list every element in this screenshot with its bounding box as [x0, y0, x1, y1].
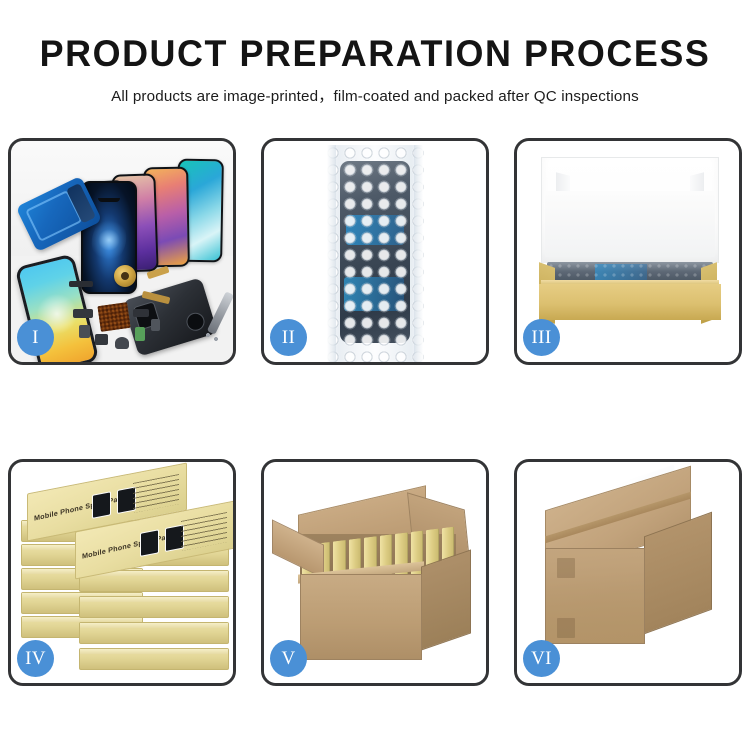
carton-front-panel — [300, 574, 422, 660]
step-badge: I — [17, 319, 54, 356]
carton-side-panel — [421, 549, 471, 650]
chip-grid-part — [97, 302, 130, 332]
page-subtitle: All products are image-printed，film-coat… — [0, 84, 750, 106]
panel-step-3: III — [514, 138, 742, 365]
small-component-part — [95, 334, 108, 345]
printed-spec-lines — [181, 512, 227, 551]
panel-step-5: V — [261, 459, 489, 686]
page-title: PRODUCT PREPARATION PROCESS — [11, 34, 739, 74]
battery-part — [135, 327, 145, 341]
small-component-part — [151, 319, 160, 331]
coil-part — [114, 265, 136, 287]
box-label-text: Mobile Phone Spare Parts — [82, 530, 176, 560]
foam-insert — [545, 191, 715, 257]
sleeve-edge-left — [327, 145, 336, 362]
step-badge: VI — [523, 640, 560, 677]
small-component-part — [73, 309, 93, 318]
screws-part — [205, 332, 221, 342]
panel-step-2: II — [261, 138, 489, 365]
sleeve-edge-right — [414, 145, 423, 362]
step-badge: IV — [17, 640, 54, 677]
printed-spec-lines — [133, 474, 179, 513]
panel-step-6: VI — [514, 459, 742, 686]
panel-step-1: I — [8, 138, 236, 365]
box-front-panel — [539, 284, 721, 320]
printed-screen-art — [140, 529, 159, 557]
step-badge: III — [523, 319, 560, 356]
small-component-part — [133, 309, 149, 317]
printed-screen-art — [92, 491, 111, 519]
box-label-text: Mobile Phone Spare Parts — [34, 492, 128, 522]
product-preparation-infographic: PRODUCT PREPARATION PROCESS All products… — [0, 0, 750, 750]
stacked-box — [79, 596, 229, 618]
speaker-part — [69, 281, 93, 287]
small-component-part — [79, 325, 90, 338]
stacked-box — [79, 648, 229, 670]
step-badge: II — [270, 319, 307, 356]
process-step-grid: I II — [8, 138, 742, 708]
carton-hand-slot — [557, 558, 575, 578]
header: PRODUCT PREPARATION PROCESS All products… — [0, 0, 750, 106]
step-badge: V — [270, 640, 307, 677]
stacked-box — [79, 622, 229, 644]
carton-hand-slot — [557, 618, 575, 638]
bubble-outline-texture — [325, 145, 425, 362]
small-component-part — [115, 337, 129, 349]
panel-step-4: Mobile Phone Spare Parts Mobile Phone Sp… — [8, 459, 236, 686]
